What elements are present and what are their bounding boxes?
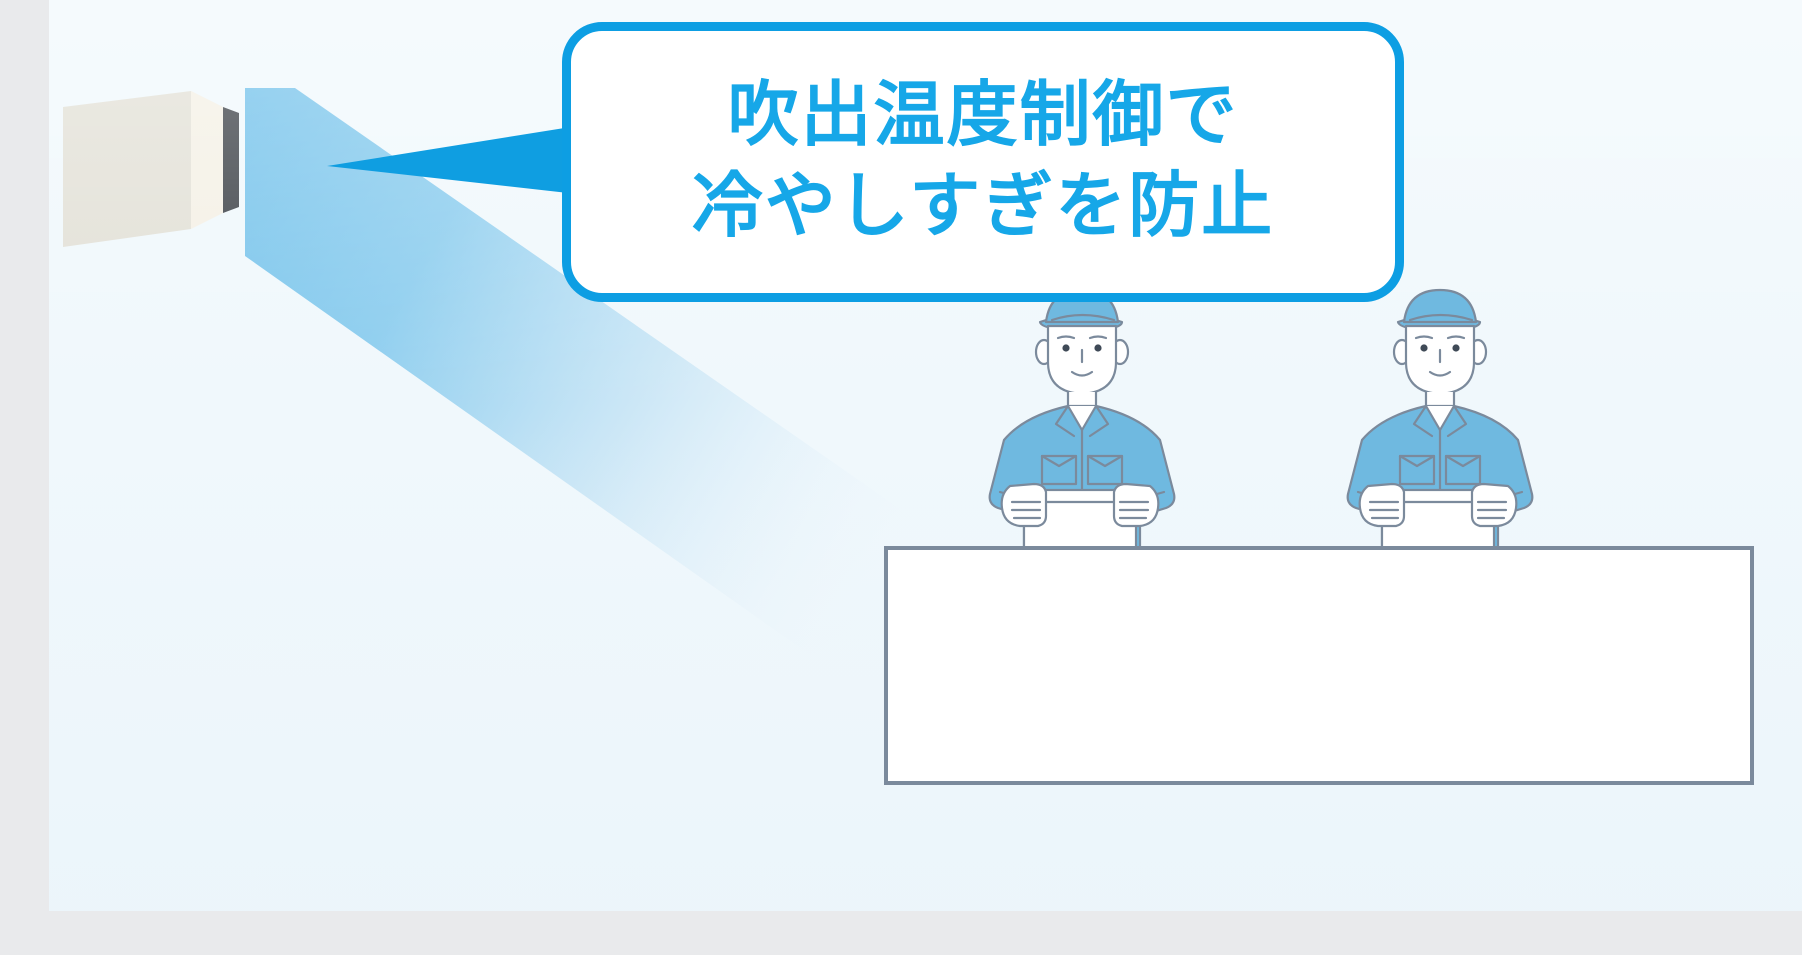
speech-bubble-line-1: 吹出温度制御で <box>727 71 1238 162</box>
worker-right <box>1322 280 1554 550</box>
worker-left <box>964 280 1196 550</box>
ceiling-air-conditioner-unit <box>63 91 279 251</box>
work-counter <box>884 546 1754 785</box>
scene-plate: 吹出温度制御で 冷やしすぎを防止 <box>49 0 1802 911</box>
speech-bubble: 吹出温度制御で 冷やしすぎを防止 <box>562 22 1404 302</box>
speech-bubble-tail <box>327 126 577 194</box>
illustration-canvas: 吹出温度制御で 冷やしすぎを防止 <box>0 0 1802 955</box>
speech-bubble-line-2: 冷やしすぎを防止 <box>692 162 1275 253</box>
